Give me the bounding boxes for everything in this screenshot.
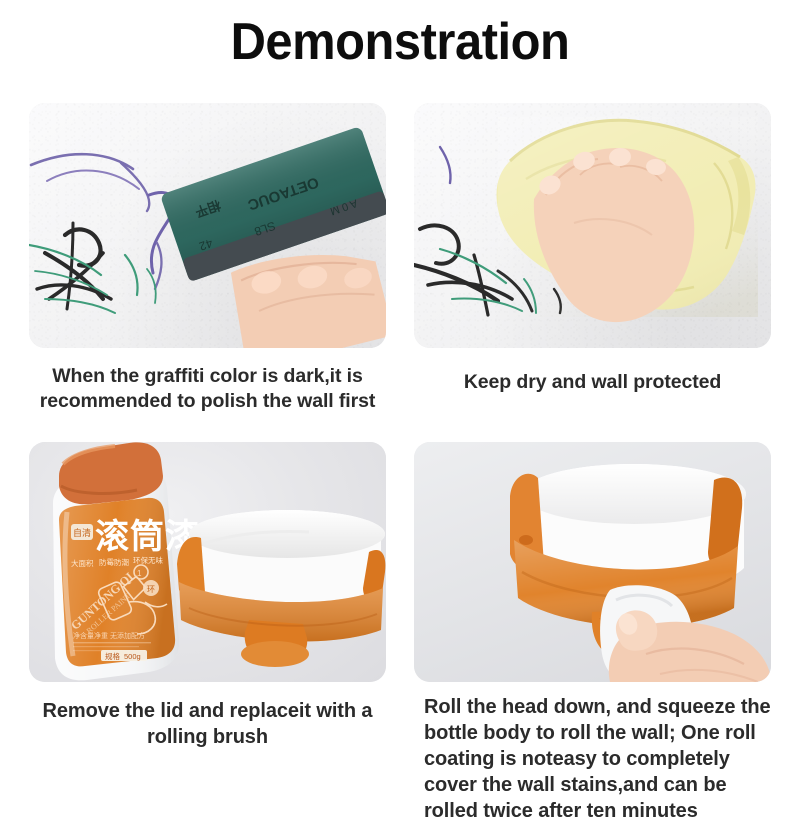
panel-replace-lid-photo: 自清 滚筒漆 大面积 防霉防潮 环保无味 GUNTONG QI xyxy=(29,442,386,682)
svg-text:1: 1 xyxy=(137,569,142,578)
svg-text:净含量净重 无添加配方: 净含量净重 无添加配方 xyxy=(73,631,145,640)
hand-sanding-block-scene: OETAOUC 相平 42 SL8 A 0 M xyxy=(29,103,386,348)
demonstration-grid: OETAOUC 相平 42 SL8 A 0 M xyxy=(29,103,771,824)
bottle-and-roller-scene: 自清 滚筒漆 大面积 防霉防潮 环保无味 GUNTONG QI xyxy=(29,442,386,682)
svg-text:自清: 自清 xyxy=(73,527,91,538)
svg-text:防霉防潮: 防霉防潮 xyxy=(99,557,129,567)
svg-text:500g: 500g xyxy=(124,652,141,661)
svg-text:环保无味: 环保无味 xyxy=(133,555,163,565)
panel-row-1: OETAOUC 相平 42 SL8 A 0 M xyxy=(29,103,771,414)
panel-replace-lid-caption: Remove the lid and replaceit with a roll… xyxy=(29,682,386,750)
panel-roll-wall-photo xyxy=(414,442,771,682)
crayon-graffiti xyxy=(29,154,189,313)
roller-brush-head xyxy=(177,510,385,667)
svg-text:环: 环 xyxy=(147,585,155,594)
panel-keep-dry-caption: Keep dry and wall protected xyxy=(414,348,771,395)
svg-text:规格: 规格 xyxy=(105,651,120,661)
panel-polish-wall: OETAOUC 相平 42 SL8 A 0 M xyxy=(29,103,386,414)
panel-polish-wall-photo: OETAOUC 相平 42 SL8 A 0 M xyxy=(29,103,386,348)
panel-replace-lid: 自清 滚筒漆 大面积 防霉防潮 环保无味 GUNTONG QI xyxy=(29,442,386,824)
panel-roll-wall: Roll the head down, and squeeze the bott… xyxy=(414,442,771,824)
svg-text:大面积: 大面积 xyxy=(71,558,94,568)
hand-wiping-cloth-scene xyxy=(414,103,771,348)
panel-keep-dry: Keep dry and wall protected xyxy=(414,103,771,414)
panel-polish-wall-caption: When the graffiti color is dark,it is re… xyxy=(29,348,386,414)
panel-roll-wall-caption: Roll the head down, and squeeze the bott… xyxy=(414,682,771,824)
panel-keep-dry-photo xyxy=(414,103,771,348)
panel-row-2: 自清 滚筒漆 大面积 防霉防潮 环保无味 GUNTONG QI xyxy=(29,442,771,824)
page-title: Demonstration xyxy=(24,8,776,76)
roller-on-wall-scene xyxy=(414,442,771,682)
